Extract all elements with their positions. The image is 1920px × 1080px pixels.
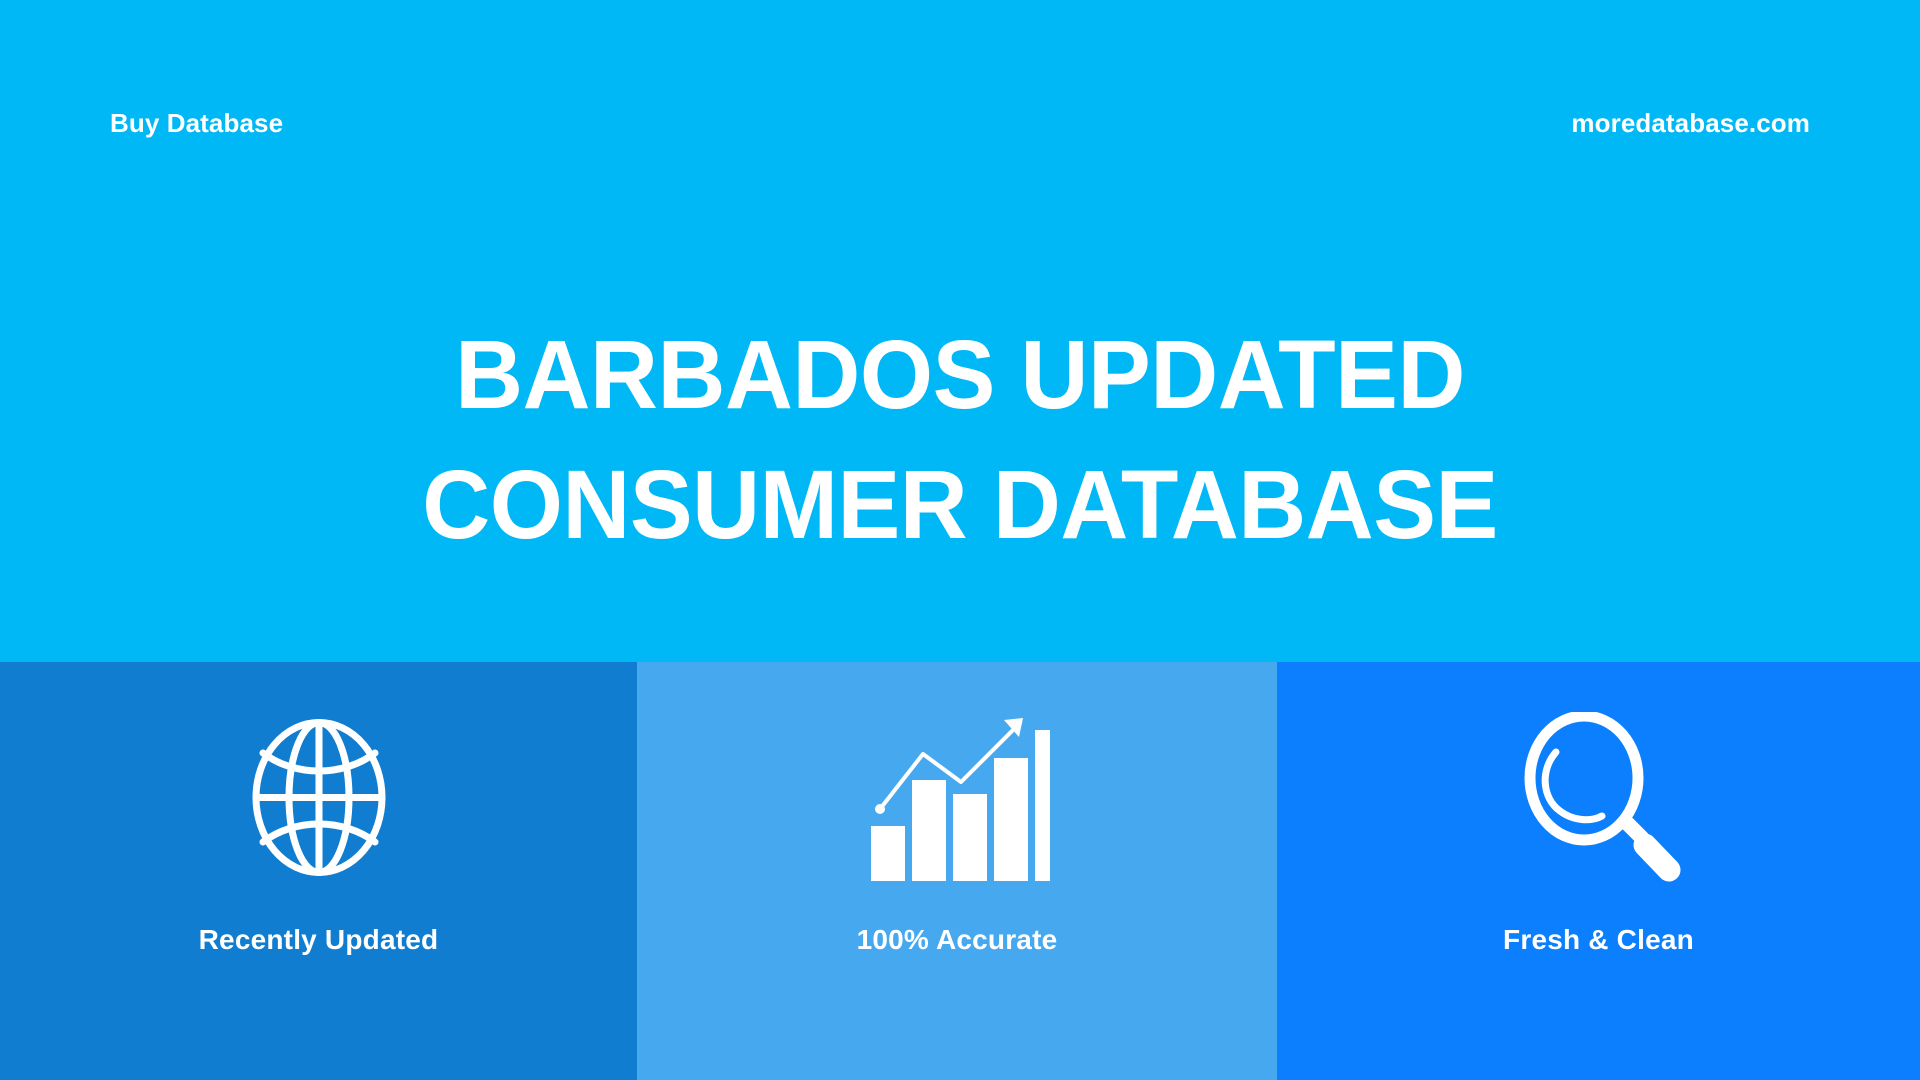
magnifier-icon-svg <box>1516 712 1681 882</box>
globe-icon-svg <box>239 715 399 880</box>
brand-name-label: Buy Database <box>110 108 283 139</box>
promo-banner: Buy Database moredatabase.com BARBADOS U… <box>0 0 1920 1080</box>
globe-icon <box>0 712 637 882</box>
feature-label-accuracy: 100% Accurate <box>637 924 1277 956</box>
hero-section: Buy Database moredatabase.com BARBADOS U… <box>0 0 1920 662</box>
feature-panels: Recently Updated <box>0 662 1920 1080</box>
feature-label-fresh-clean: Fresh & Clean <box>1277 924 1920 956</box>
feature-panel-recently-updated: Recently Updated <box>0 662 637 1080</box>
page-title-line-1: BARBADOS UPDATED <box>29 310 1891 440</box>
bar-chart-growth-icon <box>637 712 1277 882</box>
bar-chart-growth-icon-svg <box>865 710 1050 885</box>
feature-panel-accuracy: 100% Accurate <box>637 662 1277 1080</box>
magnifier-icon <box>1277 712 1920 882</box>
feature-label-recently-updated: Recently Updated <box>0 924 637 956</box>
page-title: BARBADOS UPDATED CONSUMER DATABASE <box>0 310 1920 570</box>
feature-panel-fresh-clean: Fresh & Clean <box>1277 662 1920 1080</box>
page-title-line-2: CONSUMER DATABASE <box>29 440 1891 570</box>
website-url-label: moredatabase.com <box>1571 108 1810 139</box>
